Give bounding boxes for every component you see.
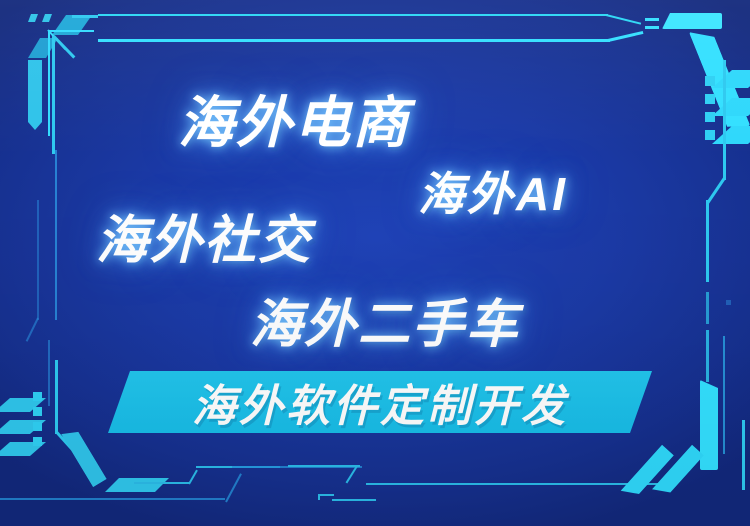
top-dash-mark-2 — [645, 26, 659, 29]
bottom-trace-6 — [232, 466, 362, 468]
bottom-trace-12 — [318, 494, 320, 500]
bottom-trace-3 — [196, 466, 280, 468]
bottom-trace-9 — [366, 483, 666, 485]
corner-inner-elbow-h — [48, 30, 94, 32]
corner-outer-frame-diag — [52, 35, 75, 59]
headline-overseas-ecommerce: 海外电商 — [178, 78, 410, 159]
top-trace-line-lower — [98, 39, 610, 42]
right-dot-column — [705, 76, 715, 86]
top-trace-line-lower-tip — [608, 31, 644, 42]
tech-promo-banner: 海外电商 海外AI 海外社交 海外二手车 海外软件定制开发 — [0, 0, 750, 526]
bottom-trace-7 — [288, 465, 360, 467]
bottom-trace-4 — [0, 498, 225, 500]
right-chevron-2 — [712, 98, 750, 116]
right-frame-v-4 — [706, 330, 709, 382]
headline-overseas-used-car: 海外二手车 — [250, 282, 520, 357]
bottom-left-frame-v — [55, 360, 58, 434]
corner-bar-upper — [52, 15, 92, 35]
top-right-cap-block — [662, 13, 722, 29]
corner-inner-elbow-v — [48, 30, 50, 136]
custom-software-ribbon: 海外软件定制开发 — [108, 371, 652, 433]
corner-vertical-bar — [28, 60, 42, 130]
bottom-left-chevron-3 — [0, 442, 46, 456]
right-chevron-3 — [712, 126, 750, 144]
corner-outer-frame-h — [72, 15, 98, 18]
right-bottom-corner-v — [742, 420, 745, 490]
bottom-trace-10 — [318, 494, 334, 496]
right-frame-v-5 — [723, 336, 725, 454]
bottom-left-dot-column — [33, 392, 42, 401]
bottom-left-chevron-2 — [0, 420, 46, 434]
right-bottom-diag-1 — [621, 445, 674, 502]
left-trace-line-1 — [55, 150, 57, 320]
corner-slab-icon-2 — [42, 14, 52, 22]
headline-overseas-social: 海外社交 — [96, 198, 312, 273]
corner-slab-icon-1 — [28, 14, 38, 22]
right-frame-step — [706, 177, 725, 204]
right-frame-v-3 — [706, 292, 709, 324]
bottom-trace-2 — [188, 470, 198, 485]
headline-overseas-ai: 海外AI — [418, 158, 568, 224]
bottom-left-slab — [105, 478, 169, 492]
top-trace-line-upper-tip — [606, 14, 641, 25]
right-bottom-blade — [700, 380, 718, 470]
top-trace-line-upper — [98, 14, 608, 16]
ribbon-label: 海外软件定制开发 — [108, 371, 652, 433]
right-bottom-diag-2 — [652, 445, 704, 500]
corner-bar-lower — [28, 38, 58, 58]
top-dash-mark-1 — [645, 18, 659, 21]
bottom-left-chevron-1 — [0, 398, 46, 412]
right-frame-v-1 — [723, 60, 726, 180]
left-trace-step-a — [26, 318, 39, 342]
bottom-left-frame-diag — [55, 431, 77, 455]
bottom-trace-11 — [332, 499, 376, 501]
bottom-left-angled-bar — [61, 426, 107, 487]
bottom-trace-1 — [134, 482, 190, 484]
bottom-trace-5 — [225, 473, 242, 502]
right-top-blade — [689, 24, 750, 134]
left-trace-step-b — [48, 340, 50, 406]
corner-inner-elbow-diag — [47, 29, 66, 50]
corner-outer-frame-v — [52, 36, 55, 154]
right-chevron-1 — [712, 70, 750, 88]
bottom-trace-8 — [346, 465, 358, 483]
right-frame-v-2 — [706, 200, 709, 282]
left-trace-line-2 — [37, 200, 39, 320]
right-tick-mark — [726, 300, 731, 305]
